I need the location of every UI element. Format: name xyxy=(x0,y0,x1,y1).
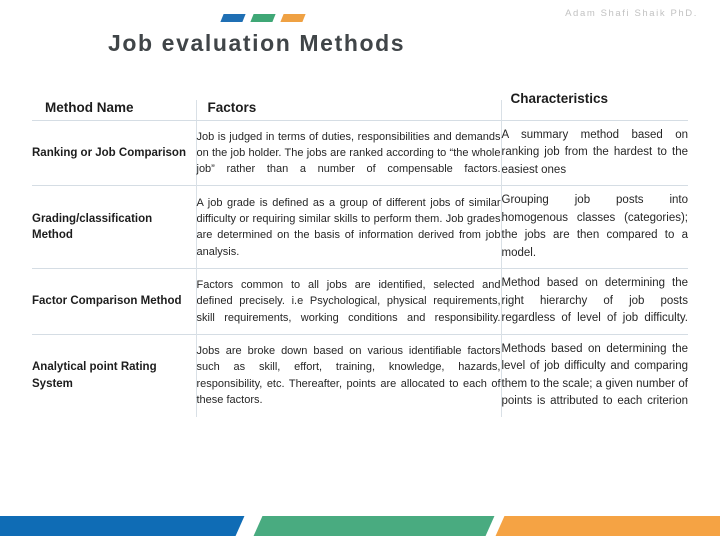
cell-characteristics: Method based on determining the right hi… xyxy=(501,269,688,334)
table-row: Ranking or Job Comparison Job is judged … xyxy=(32,121,688,186)
cell-characteristics: Grouping job posts into homogenous class… xyxy=(501,186,688,269)
table-header-row: Method Name Factors Characteristics xyxy=(32,100,688,121)
column-header-method-name: Method Name xyxy=(32,100,196,121)
cell-factors: Jobs are broke down based on various ide… xyxy=(196,334,501,416)
cell-method-name: Analytical point Rating System xyxy=(32,334,196,416)
cell-characteristics: A summary method based on ranking job fr… xyxy=(501,121,688,186)
column-header-factors-label: Factors xyxy=(197,100,501,115)
column-header-factors: Factors xyxy=(196,100,501,121)
logo-bar-green-icon xyxy=(250,14,275,22)
cell-factors: Job is judged in terms of duties, respon… xyxy=(196,121,501,186)
column-header-method-name-label: Method Name xyxy=(32,100,196,115)
table-body: Ranking or Job Comparison Job is judged … xyxy=(32,121,688,417)
table-row: Analytical point Rating System Jobs are … xyxy=(32,334,688,416)
slide-canvas: Adam Shafi Shaik PhD. Job evaluation Met… xyxy=(0,0,720,539)
cell-method-name: Factor Comparison Method xyxy=(32,269,196,334)
logo-mark xyxy=(222,14,304,25)
ribbon-bar-orange-icon xyxy=(496,516,720,536)
table-row: Factor Comparison Method Factors common … xyxy=(32,269,688,334)
ribbon-bar-blue-icon xyxy=(0,516,244,536)
table-row: Grading/classification Method A job grad… xyxy=(32,186,688,269)
job-evaluation-methods-table: Method Name Factors Characteristics Rank… xyxy=(32,100,688,417)
author-credit: Adam Shafi Shaik PhD. xyxy=(565,8,698,19)
cell-method-name: Grading/classification Method xyxy=(32,186,196,269)
logo-bar-blue-icon xyxy=(220,14,245,22)
ribbon-bar-green-icon xyxy=(254,516,495,536)
logo-bar-orange-icon xyxy=(280,14,305,22)
column-header-characteristics-label: Characteristics xyxy=(502,91,689,106)
column-header-characteristics: Characteristics xyxy=(501,100,688,121)
cell-factors: Factors common to all jobs are identifie… xyxy=(196,269,501,334)
footer-ribbon xyxy=(0,509,720,539)
cell-factors: A job grade is defined as a group of dif… xyxy=(196,186,501,269)
page-title: Job evaluation Methods xyxy=(108,30,405,57)
cell-method-name: Ranking or Job Comparison xyxy=(32,121,196,186)
cell-characteristics: Methods based on determining the level o… xyxy=(501,334,688,416)
table-header: Method Name Factors Characteristics xyxy=(32,100,688,121)
